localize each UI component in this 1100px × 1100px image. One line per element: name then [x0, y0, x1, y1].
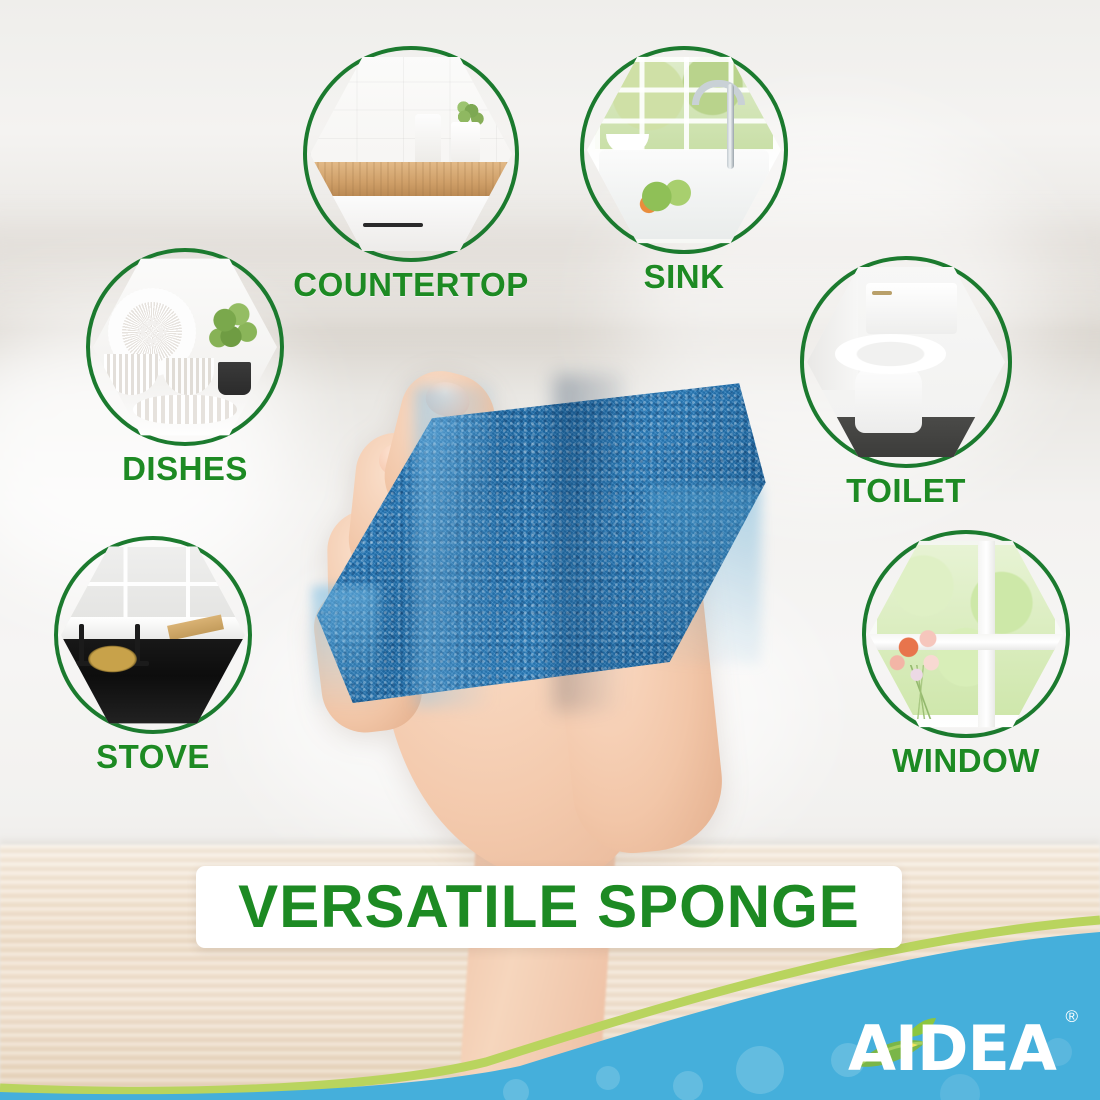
sink-scene — [587, 53, 781, 247]
feature-toilet: TOILET — [800, 256, 1012, 468]
sponge-fold-highlight — [415, 387, 492, 707]
countertop-image-clip — [310, 53, 512, 255]
feature-label-toilet: TOILET — [846, 474, 966, 507]
bathroom-wall — [807, 263, 858, 390]
window-scene — [869, 537, 1063, 731]
feature-label-dishes: DISHES — [122, 452, 248, 485]
window-image-clip — [869, 537, 1063, 731]
cabinet-handle — [363, 223, 424, 227]
window-photo-icon — [862, 530, 1070, 738]
faucet-neck — [727, 84, 734, 169]
toilet-scene — [807, 263, 1005, 461]
vegetables — [637, 173, 703, 220]
sponge-product — [300, 352, 780, 742]
feature-label-window: WINDOW — [892, 744, 1040, 777]
sponge-fold-shadow — [554, 375, 621, 710]
dishes-image-clip — [93, 255, 277, 439]
brand-name: AIDEA — [848, 1018, 1056, 1080]
countertop-surface — [310, 162, 512, 196]
toilet-seat — [835, 334, 946, 374]
countertop-photo-icon — [303, 46, 519, 262]
sink-image-clip — [587, 53, 781, 247]
bowl-left — [104, 354, 159, 394]
feature-dishes: DISHES — [86, 248, 284, 446]
feature-label-stove: STOVE — [96, 740, 210, 773]
dishes-photo-icon — [86, 248, 284, 446]
serving-platter — [133, 395, 236, 424]
feature-label-countertop: COUNTERTOP — [293, 268, 528, 301]
versatile-sponge-banner: VERSATILE SPONGE — [196, 866, 902, 948]
countertop-jar — [415, 114, 441, 167]
bowl-right — [163, 358, 215, 395]
flush-lever — [872, 291, 892, 295]
feature-stove: STOVE — [54, 536, 252, 734]
feature-sink: SINK — [580, 46, 788, 254]
feature-countertop: COUNTERTOP — [303, 46, 519, 262]
stove-image-clip — [61, 543, 245, 727]
countertop-pot — [451, 122, 479, 166]
trademark-symbol: ® — [1065, 1008, 1078, 1025]
dishes-scene — [93, 255, 277, 439]
sponge-edge-right — [646, 485, 761, 664]
dishes-planter — [218, 362, 251, 395]
stove-scene — [61, 543, 245, 727]
flower-bouquet — [881, 618, 962, 703]
product-marketing-image: COUNTERTOP SINK — [0, 0, 1100, 1100]
sink-photo-icon — [580, 46, 788, 254]
brand-logo: AIDEA ® — [848, 1004, 1080, 1090]
toilet-image-clip — [807, 263, 1005, 461]
stove-photo-icon — [54, 536, 252, 734]
banner-title: VERSATILE SPONGE — [238, 877, 860, 937]
feature-window: WINDOW — [862, 530, 1070, 738]
countertop-scene — [310, 53, 512, 255]
toilet-photo-icon — [800, 256, 1012, 468]
gas-burner — [76, 639, 150, 679]
toilet-base — [855, 366, 922, 433]
sponge-edge-left — [312, 586, 379, 711]
feature-label-sink: SINK — [644, 260, 725, 293]
